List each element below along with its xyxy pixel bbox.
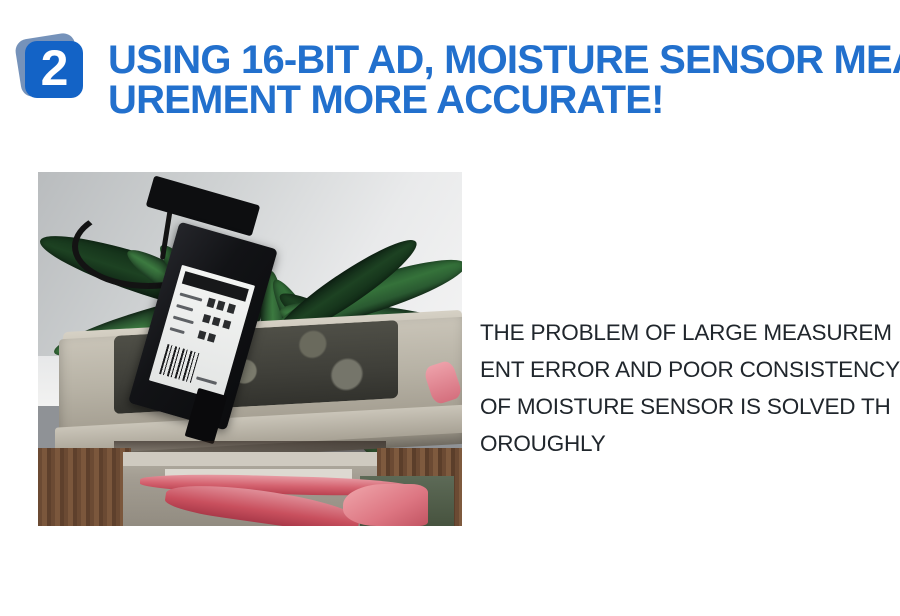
label-data-block bbox=[227, 304, 236, 314]
label-data-block bbox=[207, 298, 216, 308]
label-data-block bbox=[223, 320, 232, 330]
label-data-block bbox=[198, 330, 207, 340]
label-text-line bbox=[180, 292, 203, 301]
sensor-product-label bbox=[150, 265, 255, 401]
slide-canvas: 2 USING 16-BIT AD, MOISTURE SENSOR MEASU… bbox=[0, 0, 900, 616]
label-data-block bbox=[202, 314, 211, 324]
label-text-line bbox=[174, 316, 195, 325]
body-paragraph: THE PROBLEM OF LARGE MEASUREMENT ERROR A… bbox=[480, 314, 900, 462]
label-data-block bbox=[208, 333, 217, 343]
stone-pedestal-top bbox=[123, 452, 377, 466]
label-text-line bbox=[170, 327, 185, 334]
photo-content bbox=[38, 172, 462, 526]
step-number-badge: 2 bbox=[16, 36, 88, 102]
label-text-line bbox=[177, 304, 194, 311]
label-data-block bbox=[217, 301, 226, 311]
wooden-furniture-left bbox=[38, 448, 131, 526]
badge-number-label: 2 bbox=[41, 43, 68, 93]
pink-ribbon-tail bbox=[343, 484, 428, 526]
page-title: USING 16-BIT AD, MOISTURE SENSOR MEASURE… bbox=[108, 40, 900, 120]
product-photo bbox=[38, 172, 462, 526]
badge-face-shape: 2 bbox=[25, 41, 83, 98]
label-text-line bbox=[197, 376, 218, 385]
label-data-block bbox=[212, 317, 221, 327]
label-barcode bbox=[159, 344, 199, 383]
